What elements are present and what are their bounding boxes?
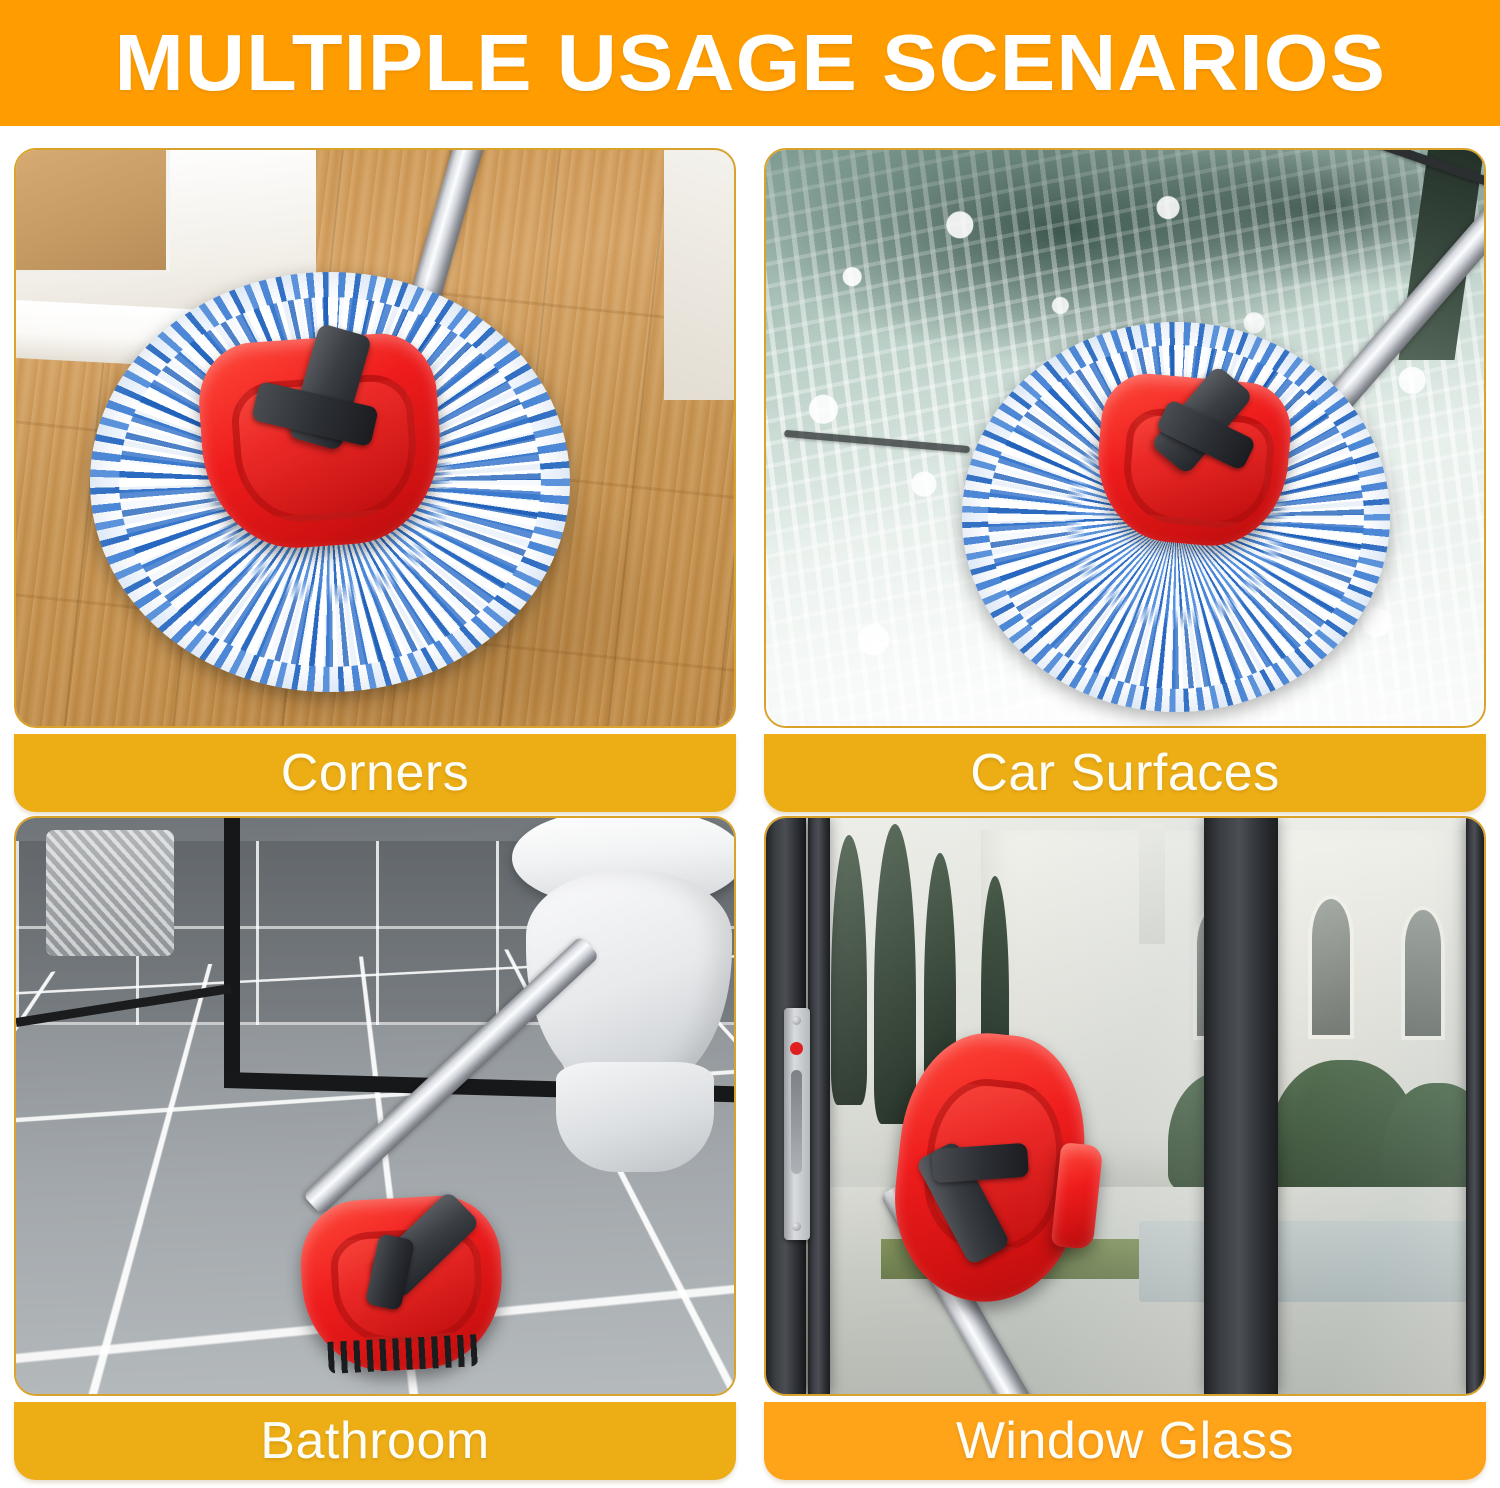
scenario-panel-car-surfaces[interactable]: Car Surfaces	[764, 148, 1486, 814]
scenario-panel-corners[interactable]: Corners	[14, 148, 736, 814]
handle-slot	[791, 1070, 802, 1174]
window-frame-center	[1204, 818, 1278, 1394]
caption-label-corners: Corners	[281, 747, 469, 799]
scenario-panel-window-glass[interactable]: Window Glass	[764, 816, 1486, 1482]
right-wall	[664, 150, 734, 400]
building-arched-window	[1312, 899, 1350, 1035]
toilet	[504, 816, 736, 1210]
caption-bar-bathroom: Bathroom	[14, 1402, 736, 1480]
caption-label-window-glass: Window Glass	[956, 1415, 1294, 1467]
photo-car-surfaces	[764, 148, 1486, 728]
cypress-tree	[831, 835, 867, 1105]
photo-bathroom	[14, 816, 736, 1396]
caption-bar-window-glass: Window Glass	[764, 1402, 1486, 1480]
caption-label-bathroom: Bathroom	[260, 1415, 489, 1467]
scenario-grid: Corners Car Surfaces	[14, 148, 1486, 1482]
header-banner: MULTIPLE USAGE SCENARIOS	[0, 0, 1500, 126]
handle-screw-bottom	[792, 1222, 801, 1231]
wall-reflection	[16, 150, 170, 274]
reflecting-pond	[1139, 1221, 1469, 1302]
caption-bar-car-surfaces: Car Surfaces	[764, 734, 1486, 812]
building-arched-window	[1405, 910, 1441, 1036]
window-frame-right	[1466, 818, 1484, 1394]
page-title: MULTIPLE USAGE SCENARIOS	[114, 23, 1385, 103]
handle-screw-top	[792, 1016, 801, 1025]
shower-frame-vertical	[224, 818, 240, 1086]
caption-label-car-surfaces: Car Surfaces	[970, 747, 1279, 799]
towel-basket	[46, 830, 174, 956]
handle-indicator-dot	[790, 1042, 803, 1055]
photo-corners	[14, 148, 736, 728]
cleaner-release-lever	[931, 1143, 1029, 1184]
caption-bar-corners: Corners	[14, 734, 736, 812]
building-spire	[1139, 824, 1165, 944]
photo-window-glass	[764, 816, 1486, 1396]
window-frame-inner-left	[808, 818, 830, 1394]
scenario-panel-bathroom[interactable]: Bathroom	[14, 816, 736, 1482]
toilet-base	[556, 1062, 714, 1172]
